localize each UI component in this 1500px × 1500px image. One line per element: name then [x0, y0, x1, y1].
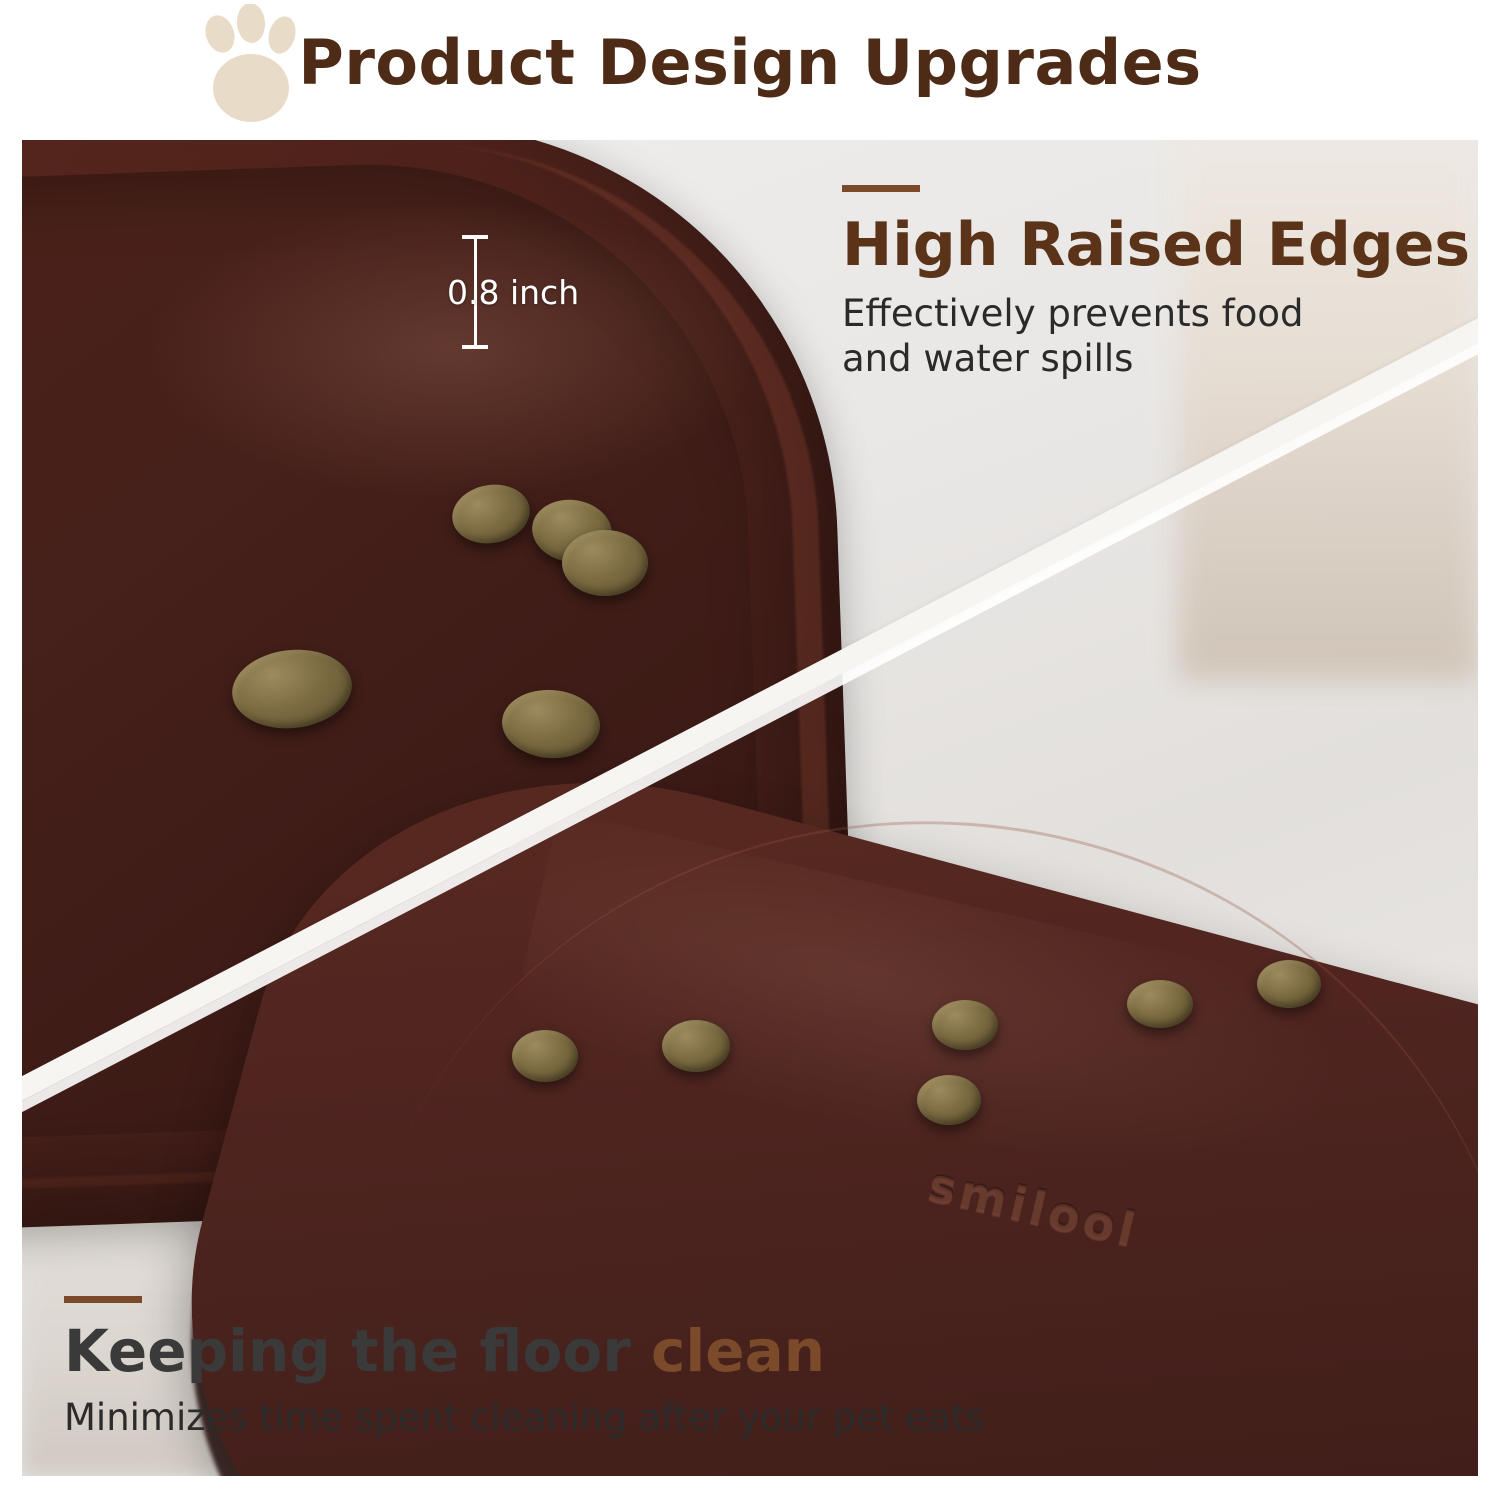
- callout-heading: High Raised Edges: [842, 214, 1462, 277]
- kibble-piece: [917, 1075, 981, 1125]
- kibble-piece: [1127, 980, 1193, 1028]
- kibble-piece: [932, 1000, 998, 1050]
- callout-body: Effectively prevents food and water spil…: [842, 291, 1462, 381]
- callout-high-raised-edges: High Raised Edges Effectively prevents f…: [842, 185, 1462, 381]
- frame-right: [1478, 0, 1500, 1500]
- callout-body: Minimizes time spent cleaning after your…: [64, 1396, 1444, 1440]
- dimension-label: 0.8 inch: [447, 273, 579, 312]
- callout-body-line-1: Effectively prevents food: [842, 292, 1303, 335]
- frame-left: [0, 0, 22, 1500]
- page-title: Product Design Upgrades: [0, 26, 1500, 99]
- product-photo: smilool 0.8 inch High Raised Edges Effec…: [22, 140, 1478, 1476]
- product-infographic: smilool 0.8 inch High Raised Edges Effec…: [0, 0, 1500, 1500]
- callout-heading-accent: clean: [651, 1317, 825, 1385]
- kibble-piece: [562, 530, 648, 596]
- kibble-piece: [662, 1020, 730, 1072]
- callout-heading: Keeping the floor clean: [64, 1321, 1444, 1382]
- dimension-bar-bottom: [462, 345, 488, 349]
- kibble-piece: [1257, 960, 1321, 1008]
- callout-rule: [64, 1296, 142, 1303]
- callout-body-line-2: and water spills: [842, 337, 1133, 380]
- frame-bottom: [0, 1476, 1500, 1500]
- kibble-piece: [512, 1030, 578, 1082]
- callout-rule: [842, 185, 920, 192]
- callout-keeping-floor-clean: Keeping the floor clean Minimizes time s…: [64, 1296, 1444, 1440]
- callout-heading-part-1: Keeping the floor: [64, 1317, 651, 1385]
